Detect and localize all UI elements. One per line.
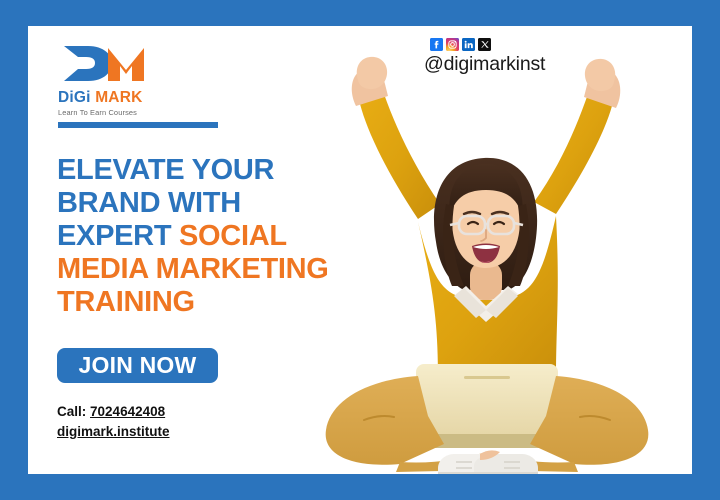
phone-number[interactable]: 7024642408 xyxy=(90,404,165,419)
headline-line-1: ELEVATE YOUR xyxy=(57,154,274,186)
contact-info: Call: 7024642408 digimark.institute xyxy=(57,402,170,441)
join-now-button[interactable]: JOIN NOW xyxy=(57,348,218,383)
headline-line-3-blue: EXPERT xyxy=(57,220,171,252)
celebrating-woman-illustration xyxy=(268,26,692,474)
logo-word-digi: DiGi xyxy=(58,89,91,106)
headline-line-2: BRAND WITH xyxy=(57,187,241,219)
headline-line-5: TRAINING xyxy=(57,286,195,318)
dm-monogram-icon xyxy=(58,40,154,86)
logo-word-mark: MARK xyxy=(95,89,142,106)
logo-wordmark: DiGi MARK xyxy=(58,89,233,107)
website-link[interactable]: digimark.institute xyxy=(57,424,170,439)
logo-tagline: Learn To Earn Courses xyxy=(58,108,233,117)
contact-phone-row: Call: 7024642408 xyxy=(57,402,170,422)
banner-frame: DiGi MARK Learn To Earn Courses ELEVATE … xyxy=(0,0,720,500)
contact-website-row: digimark.institute xyxy=(57,422,170,442)
accent-divider xyxy=(58,122,218,128)
call-label: Call: xyxy=(57,404,86,419)
hero-photo xyxy=(268,26,692,474)
banner-canvas: DiGi MARK Learn To Earn Courses ELEVATE … xyxy=(28,26,692,474)
brand-logo: DiGi MARK Learn To Earn Courses xyxy=(58,40,233,117)
